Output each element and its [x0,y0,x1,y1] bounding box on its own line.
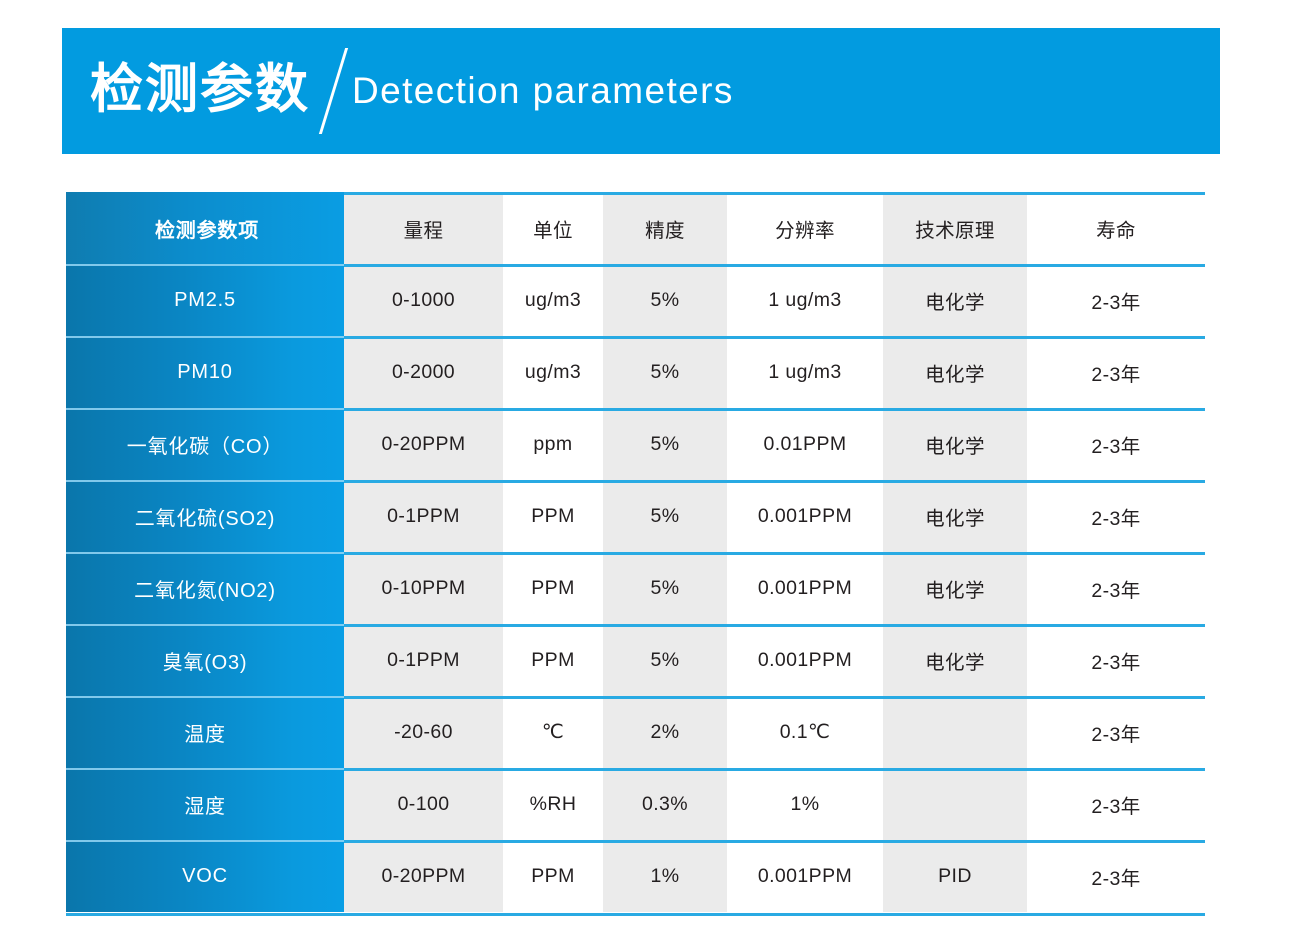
table-cell-accuracy-3: 5% [603,408,727,480]
table-header-label: 检测参数项 [151,214,259,243]
table-cell-accuracy-4: 5% [603,480,727,552]
page-banner: 检测参数 Detection parameters [62,28,1220,154]
table-cell-range-4: 0-1PPM [344,480,503,552]
table-cell-range-2: 0-2000 [344,336,503,408]
table-cell-resolution-8: 1% [727,768,883,840]
banner-title-cn: 检测参数 [90,63,310,120]
table-row-name-9: VOC [66,840,344,912]
table-cell-accuracy-7: 2% [603,696,727,768]
table-cell-unit-8: %RH [503,768,603,840]
table-header-cell-unit: 单位 [503,192,603,264]
table-cell-life-9: 2-3年 [1027,840,1205,912]
banner-slash-icon [310,48,354,134]
table-header-cell-parameter: 检测参数项 [66,192,344,264]
table-cell-life-7: 2-3年 [1027,696,1205,768]
table-cell-principle-1: 电化学 [883,264,1027,336]
table-cell-resolution-6: 0.001PPM [727,624,883,696]
table-row-name-8: 湿度 [66,768,344,840]
table-cell-principle-7 [883,696,1027,768]
table-cell-accuracy-1: 5% [603,264,727,336]
table-cell-accuracy-8: 0.3% [603,768,727,840]
table-cell-resolution-9: 0.001PPM [727,840,883,912]
table-cell-range-7: -20-60 [344,696,503,768]
table-cell-principle-8 [883,768,1027,840]
table-row-name-1: PM2.5 [66,264,344,336]
detection-parameters-table: 检测参数项量程单位精度分辨率技术原理寿命PM2.50-1000ug/m35%1 … [66,192,1205,912]
table-row-name-5: 二氧化氮(NO2) [66,552,344,624]
table-cell-life-6: 2-3年 [1027,624,1205,696]
table-cell-resolution-7: 0.1℃ [727,696,883,768]
table-cell-unit-4: PPM [503,480,603,552]
table-cell-unit-3: ppm [503,408,603,480]
table-header-cell-principle: 技术原理 [883,192,1027,264]
table-cell-life-2: 2-3年 [1027,336,1205,408]
table-row-name-3: 一氧化碳（CO） [66,408,344,480]
table-cell-range-5: 0-10PPM [344,552,503,624]
table-row-name-7: 温度 [66,696,344,768]
table-bottom-rule-data-columns [344,913,1205,916]
table-header-cell-life: 寿命 [1027,192,1205,264]
table-cell-unit-7: ℃ [503,696,603,768]
table-row-name-2: PM10 [66,336,344,408]
table-cell-accuracy-5: 5% [603,552,727,624]
table-cell-range-8: 0-100 [344,768,503,840]
table-cell-resolution-5: 0.001PPM [727,552,883,624]
table-cell-resolution-1: 1 ug/m3 [727,264,883,336]
table-cell-principle-5: 电化学 [883,552,1027,624]
banner-title-group: 检测参数 Detection parameters [90,28,734,154]
table-cell-life-3: 2-3年 [1027,408,1205,480]
table-cell-principle-3: 电化学 [883,408,1027,480]
table-cell-principle-4: 电化学 [883,480,1027,552]
table-cell-unit-9: PPM [503,840,603,912]
banner-title-en: Detection parameters [352,72,734,111]
table-cell-resolution-2: 1 ug/m3 [727,336,883,408]
table-header-cell-range: 量程 [344,192,503,264]
table-cell-life-4: 2-3年 [1027,480,1205,552]
table-cell-accuracy-6: 5% [603,624,727,696]
table-cell-range-3: 0-20PPM [344,408,503,480]
table-cell-life-1: 2-3年 [1027,264,1205,336]
table-cell-unit-5: PPM [503,552,603,624]
table-bottom-rule-name-column [66,913,344,916]
table-cell-accuracy-9: 1% [603,840,727,912]
table-cell-life-8: 2-3年 [1027,768,1205,840]
table-cell-life-5: 2-3年 [1027,552,1205,624]
table-cell-unit-1: ug/m3 [503,264,603,336]
table-cell-range-6: 0-1PPM [344,624,503,696]
table-cell-unit-2: ug/m3 [503,336,603,408]
table-cell-principle-2: 电化学 [883,336,1027,408]
table-cell-resolution-4: 0.001PPM [727,480,883,552]
table-cell-range-1: 0-1000 [344,264,503,336]
table-header-cell-accuracy: 精度 [603,192,727,264]
table-cell-accuracy-2: 5% [603,336,727,408]
table-row-name-6: 臭氧(O3) [66,624,344,696]
table-cell-principle-9: PID [883,840,1027,912]
table-cell-range-9: 0-20PPM [344,840,503,912]
table-cell-unit-6: PPM [503,624,603,696]
table-cell-principle-6: 电化学 [883,624,1027,696]
table-cell-resolution-3: 0.01PPM [727,408,883,480]
table-header-cell-resolution: 分辨率 [727,192,883,264]
table-row-name-4: 二氧化硫(SO2) [66,480,344,552]
